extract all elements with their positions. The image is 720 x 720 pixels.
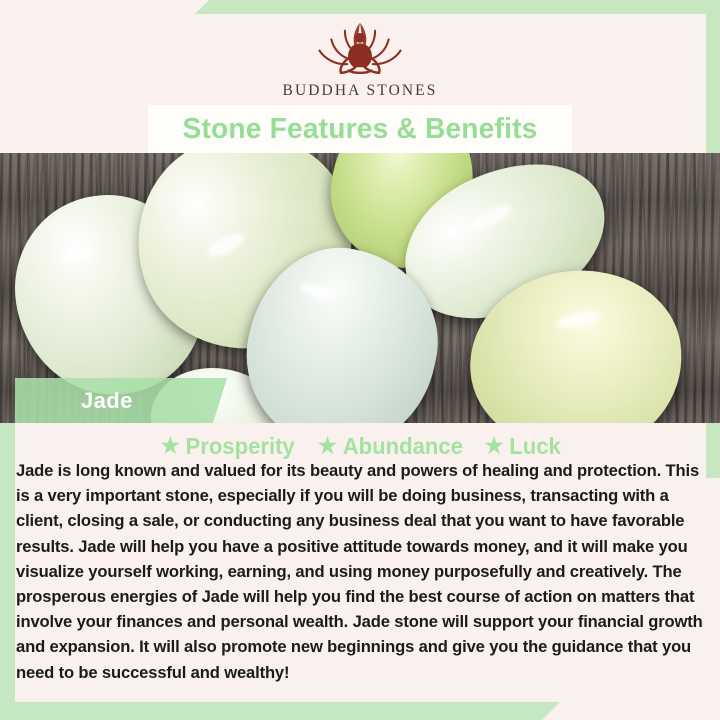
benefit-label: Luck — [509, 433, 561, 460]
page-title: Stone Features & Benefits — [182, 113, 537, 146]
brand-name: BUDDHA STONES — [283, 82, 438, 100]
accent-band-top — [195, 0, 720, 14]
star-icon: ★ — [484, 435, 503, 457]
lotus-meditation-icon — [312, 18, 408, 80]
benefit-item: ★ Abundance — [318, 433, 463, 460]
accent-band-bottom — [0, 702, 560, 720]
title-banner: Stone Features & Benefits — [148, 105, 572, 153]
benefit-item: ★ Luck — [484, 433, 560, 460]
benefit-item: ★ Prosperity — [161, 433, 295, 460]
stone-info-card: BUDDHA STONES Stone Features & Benefits … — [0, 0, 720, 720]
benefit-label: Abundance — [342, 433, 462, 460]
star-icon: ★ — [318, 435, 337, 457]
star-icon: ★ — [161, 435, 180, 457]
brand-logo: BUDDHA STONES — [0, 18, 720, 110]
benefit-label: Prosperity — [186, 433, 295, 460]
stone-name: Jade — [81, 388, 133, 414]
stone-description: Jade is long known and valued for its be… — [16, 458, 708, 685]
stone-name-banner: Jade — [15, 378, 227, 423]
